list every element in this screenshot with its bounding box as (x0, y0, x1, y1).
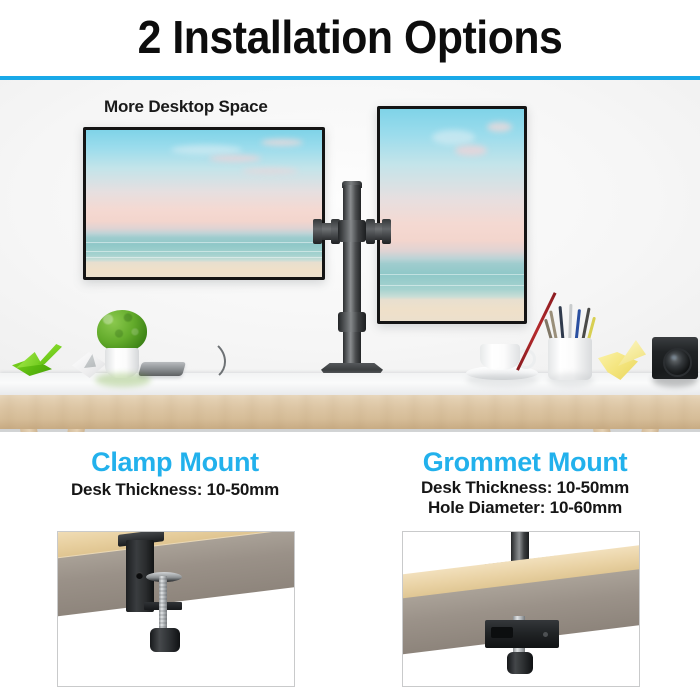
desk-wood-edge (0, 395, 700, 429)
cloud-icon (171, 145, 242, 155)
cable (178, 338, 226, 382)
yellow-origami-crane (598, 340, 646, 380)
grommet-mount-title: Grommet Mount (350, 446, 700, 478)
clamp-screw (159, 576, 167, 632)
camera-reflection (652, 373, 698, 387)
pole-collar-lower (338, 312, 366, 332)
cloud-icon (487, 122, 513, 133)
left-monitor (83, 127, 325, 280)
cloud-icon (242, 168, 299, 174)
header-section: 2 Installation Options (0, 0, 700, 78)
wave-line (380, 285, 524, 286)
wave-line (86, 242, 322, 243)
clamp-mount-title: Clamp Mount (0, 446, 350, 478)
right-monitor-screen (380, 109, 524, 321)
plant-reflection (95, 373, 151, 387)
grommet-under-bracket (485, 620, 559, 648)
cloud-icon (209, 155, 261, 162)
right-monitor (377, 106, 527, 324)
hero-caption: More Desktop Space (104, 97, 268, 117)
beach-wallpaper-landscape (86, 130, 322, 277)
cup-reflection (466, 373, 538, 387)
option-clamp-mount: Clamp Mount Desk Thickness: 10-50mm (0, 432, 350, 700)
grommet-mount-photo (402, 531, 640, 687)
grommet-desk-thickness-spec: Desk Thickness: 10-50mm (350, 478, 700, 498)
hero-product-photo: More Desktop Space (0, 80, 700, 432)
beach-wallpaper-portrait (380, 109, 524, 321)
grommet-tightening-knob (507, 652, 533, 674)
option-grommet-mount: Grommet Mount Desk Thickness: 10-50mm Ho… (350, 432, 700, 700)
wave-line (86, 257, 322, 258)
clamp-desk-thickness-spec: Desk Thickness: 10-50mm (0, 480, 350, 500)
pole-collar-upper (338, 220, 366, 242)
cloud-icon (261, 139, 303, 146)
penholder-reflection (548, 373, 594, 387)
clamp-mount-specs: Desk Thickness: 10-50mm (0, 480, 350, 500)
mount-pole (343, 185, 361, 369)
pen-holder (548, 304, 592, 380)
grommet-pole (511, 531, 529, 562)
installation-options-section: Clamp Mount Desk Thickness: 10-50mm (0, 432, 700, 700)
arm-joint (366, 219, 375, 244)
cloud-icon (432, 130, 475, 145)
wave-line (380, 274, 524, 275)
grommet-mount-specs: Desk Thickness: 10-50mm Hole Diameter: 1… (350, 478, 700, 518)
arm-joint (382, 219, 391, 244)
page-title: 2 Installation Options (25, 7, 676, 67)
grommet-hole-diameter-spec: Hole Diameter: 10-60mm (350, 498, 700, 518)
green-origami-crane (10, 344, 66, 378)
cloud-icon (455, 145, 487, 156)
left-monitor-screen (86, 130, 322, 277)
wave-line (86, 251, 322, 252)
clamp-tightening-knob (150, 628, 180, 652)
arm-joint (313, 219, 322, 244)
infographic-page: 2 Installation Options (0, 0, 700, 700)
clamp-mount-photo (57, 531, 295, 687)
